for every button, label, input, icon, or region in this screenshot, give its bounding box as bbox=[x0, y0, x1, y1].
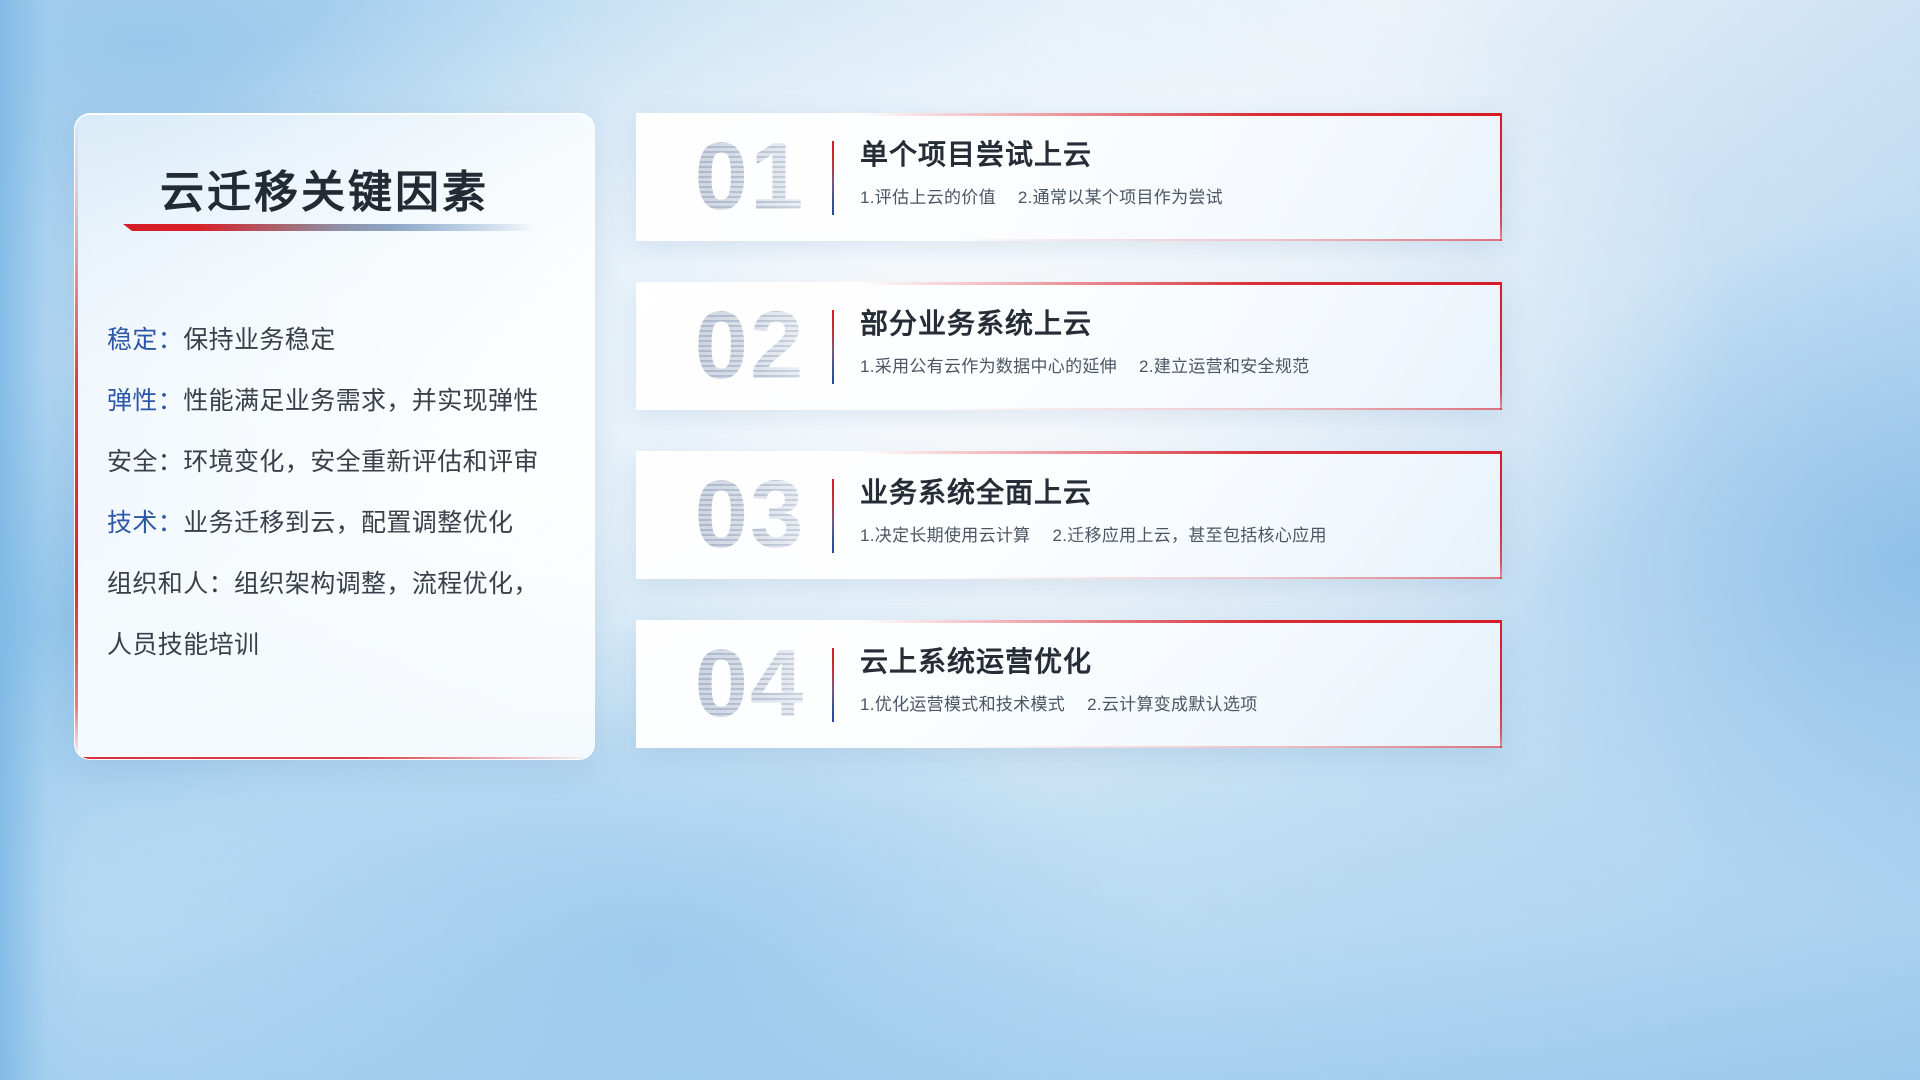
key-factor-label: 组织和人： bbox=[107, 570, 234, 598]
card-top-accent-line bbox=[636, 451, 1502, 454]
key-factor-value: 环境变化，安全重新评估和评审 bbox=[183, 448, 539, 476]
stage-point-1: 1.优化运营模式和技术模式 bbox=[860, 695, 1065, 714]
key-factor-row: 安全：环境变化，安全重新评估和评审 bbox=[107, 432, 567, 493]
card-body: 云上系统运营优化1.优化运营模式和技术模式2.云计算变成默认选项 bbox=[860, 642, 1472, 718]
stage-description: 1.优化运营模式和技术模式2.云计算变成默认选项 bbox=[860, 692, 1472, 718]
stage-title: 单个项目尝试上云 bbox=[860, 135, 1472, 175]
key-factor-row: 人员技能培训 bbox=[107, 615, 567, 676]
stage-point-2: 2.迁移应用上云，甚至包括核心应用 bbox=[1052, 526, 1326, 545]
stage-card[interactable]: 02部分业务系统上云1.采用公有云作为数据中心的延伸2.建立运营和安全规范 bbox=[636, 282, 1502, 410]
key-factor-label: 技术： bbox=[107, 509, 183, 537]
stage-number: 04 bbox=[660, 628, 840, 740]
stage-card[interactable]: 01单个项目尝试上云1.评估上云的价值2.通常以某个项目作为尝试 bbox=[636, 113, 1502, 241]
title-underline-rule bbox=[123, 224, 535, 231]
key-factor-row: 弹性：性能满足业务需求，并实现弹性 bbox=[107, 371, 567, 432]
stage-point-2: 2.通常以某个项目作为尝试 bbox=[1018, 188, 1223, 207]
card-right-accent-line bbox=[1500, 113, 1503, 241]
stage-number: 01 bbox=[660, 121, 840, 233]
key-factor-value: 人员技能培训 bbox=[107, 631, 259, 659]
card-top-accent-line bbox=[636, 282, 1502, 285]
card-body: 单个项目尝试上云1.评估上云的价值2.通常以某个项目作为尝试 bbox=[860, 135, 1472, 211]
key-factors-panel: 云迁移关键因素 稳定：保持业务稳定弹性：性能满足业务需求，并实现弹性安全：环境变… bbox=[74, 113, 595, 760]
stage-point-1: 1.决定长期使用云计算 bbox=[860, 526, 1030, 545]
key-factor-label: 弹性： bbox=[107, 387, 183, 415]
panel-bottom-accent-line bbox=[75, 757, 594, 760]
stage-number: 02 bbox=[660, 290, 840, 402]
card-divider-bar bbox=[832, 648, 834, 722]
key-factor-value: 性能满足业务需求，并实现弹性 bbox=[183, 387, 539, 415]
stage-point-1: 1.评估上云的价值 bbox=[860, 188, 996, 207]
stage-title: 云上系统运营优化 bbox=[860, 642, 1472, 682]
stage-card[interactable]: 03业务系统全面上云1.决定长期使用云计算2.迁移应用上云，甚至包括核心应用 bbox=[636, 451, 1502, 579]
stage-point-2: 2.云计算变成默认选项 bbox=[1087, 695, 1257, 714]
card-bottom-accent-line bbox=[948, 408, 1502, 410]
key-factor-value: 保持业务稳定 bbox=[183, 326, 335, 354]
key-factor-label: 稳定： bbox=[107, 326, 183, 354]
card-bottom-accent-line bbox=[948, 239, 1502, 241]
stage-point-1: 1.采用公有云作为数据中心的延伸 bbox=[860, 357, 1117, 376]
stage-description: 1.决定长期使用云计算2.迁移应用上云，甚至包括核心应用 bbox=[860, 523, 1472, 549]
key-factors-list: 稳定：保持业务稳定弹性：性能满足业务需求，并实现弹性安全：环境变化，安全重新评估… bbox=[107, 310, 567, 676]
stages-card-list: 01单个项目尝试上云1.评估上云的价值2.通常以某个项目作为尝试02部分业务系统… bbox=[636, 113, 1502, 789]
card-bottom-accent-line bbox=[948, 746, 1502, 748]
page-title: 云迁移关键因素 bbox=[160, 156, 489, 220]
card-right-accent-line bbox=[1500, 620, 1503, 748]
stage-card[interactable]: 04云上系统运营优化1.优化运营模式和技术模式2.云计算变成默认选项 bbox=[636, 620, 1502, 748]
stage-number: 03 bbox=[660, 459, 840, 571]
card-right-accent-line bbox=[1500, 282, 1503, 410]
key-factor-row: 稳定：保持业务稳定 bbox=[107, 310, 567, 371]
card-divider-bar bbox=[832, 479, 834, 553]
card-divider-bar bbox=[832, 141, 834, 215]
key-factor-row: 技术：业务迁移到云，配置调整优化 bbox=[107, 493, 567, 554]
card-body: 业务系统全面上云1.决定长期使用云计算2.迁移应用上云，甚至包括核心应用 bbox=[860, 473, 1472, 549]
card-body: 部分业务系统上云1.采用公有云作为数据中心的延伸2.建立运营和安全规范 bbox=[860, 304, 1472, 380]
card-top-accent-line bbox=[636, 113, 1502, 116]
stage-description: 1.采用公有云作为数据中心的延伸2.建立运营和安全规范 bbox=[860, 354, 1472, 380]
key-factor-value: 组织架构调整，流程优化， bbox=[234, 570, 539, 598]
card-top-accent-line bbox=[636, 620, 1502, 623]
key-factor-row: 组织和人：组织架构调整，流程优化， bbox=[107, 554, 567, 615]
panel-left-accent-line bbox=[75, 114, 78, 759]
card-bottom-accent-line bbox=[948, 577, 1502, 579]
key-factor-label: 安全： bbox=[107, 448, 183, 476]
stage-description: 1.评估上云的价值2.通常以某个项目作为尝试 bbox=[860, 185, 1472, 211]
key-factor-value: 业务迁移到云，配置调整优化 bbox=[183, 509, 513, 537]
stage-point-2: 2.建立运营和安全规范 bbox=[1139, 357, 1309, 376]
card-divider-bar bbox=[832, 310, 834, 384]
card-right-accent-line bbox=[1500, 451, 1503, 579]
stage-title: 部分业务系统上云 bbox=[860, 304, 1472, 344]
stage-title: 业务系统全面上云 bbox=[860, 473, 1472, 513]
